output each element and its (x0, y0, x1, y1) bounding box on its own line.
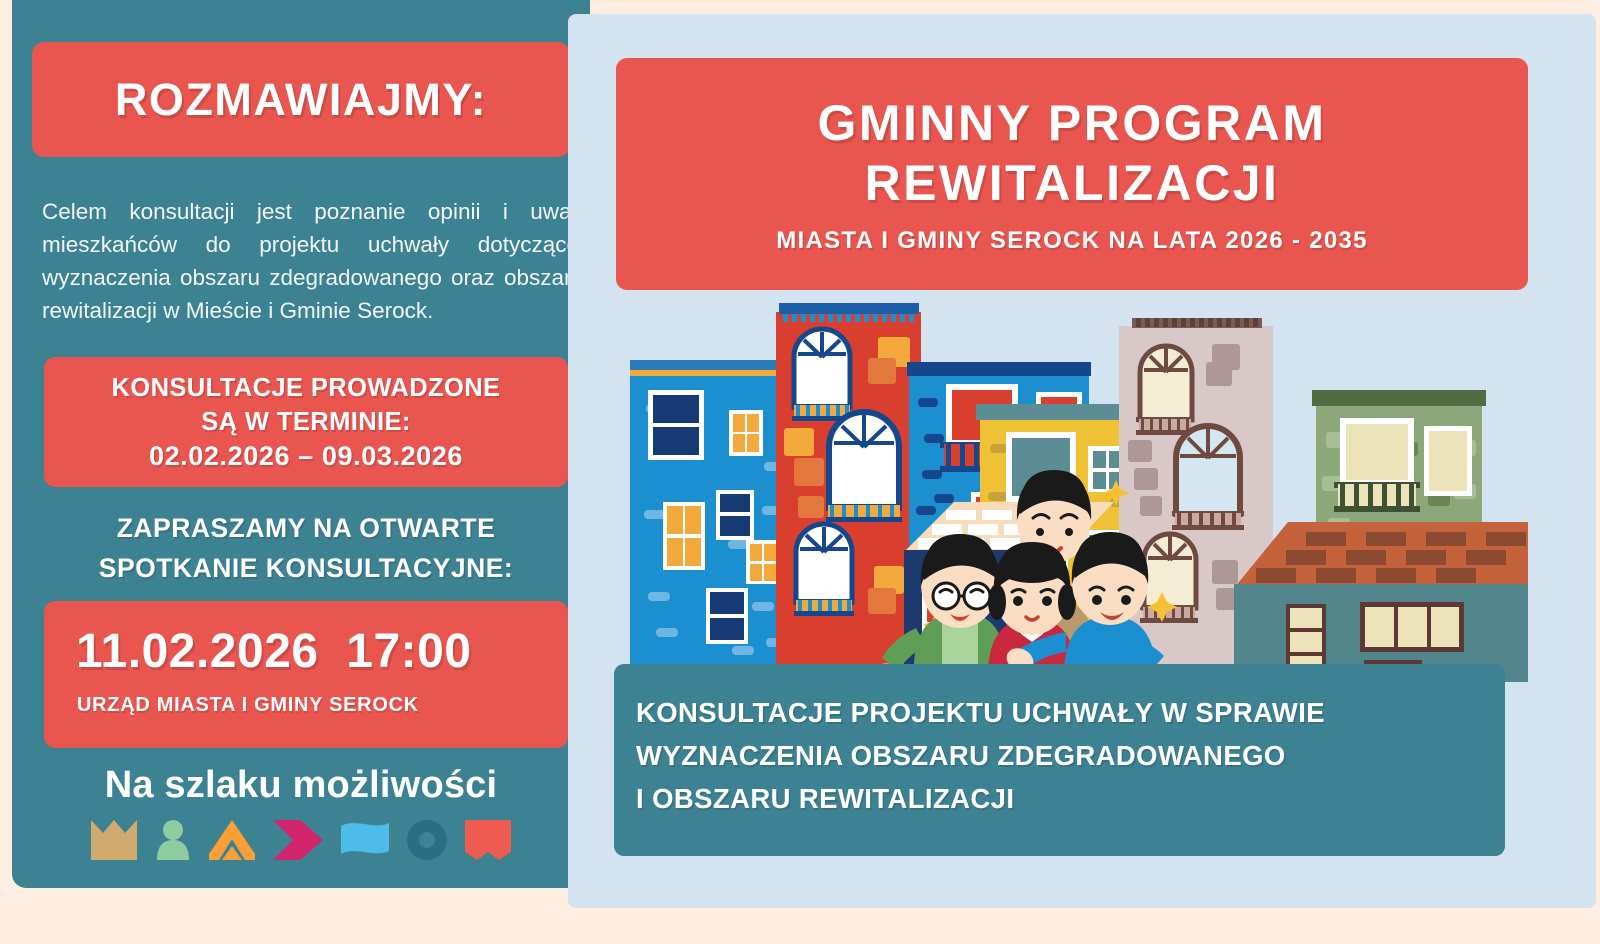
footer-line3: I OBSZARU REWITALIZACJI (636, 783, 1014, 815)
invitation-line2: SPOTKANIE KONSULTACYJNE: (44, 548, 568, 588)
left-header-banner: ROZMAWIAJMY: (32, 42, 570, 157)
footer-line2: WYZNACZENIA OBSZARU ZDEGRADOWANEGO (636, 740, 1286, 772)
poster-canvas: ROZMAWIAJMY: Celem konsultacji jest pozn… (0, 0, 1600, 944)
consultation-period-box: KONSULTACJE PROWADZONE SĄ W TERMINIE: 02… (44, 357, 568, 487)
open-book-icon (465, 820, 511, 860)
invitation-line1: ZAPRASZAMY NA OTWARTE (44, 508, 568, 548)
town-buildings-with-people-illustration (616, 292, 1528, 682)
crown-m-icon (91, 820, 137, 860)
left-header-title: ROZMAWIAJMY: (115, 74, 487, 126)
left-panel: ROZMAWIAJMY: Celem konsultacji jest pozn… (12, 0, 590, 888)
program-title-line2: REWITALIZACJI (865, 153, 1280, 213)
right-panel: GMINNY PROGRAM REWITALIZACJI MIASTA I GM… (568, 14, 1596, 908)
circle-target-icon (407, 820, 447, 860)
intro-paragraph: Celem konsultacji jest poznanie opinii i… (42, 195, 584, 327)
meeting-details-box: 11.02.2026 17:00 URZĄD MIASTA I GMINY SE… (44, 601, 568, 748)
footer-line1: KONSULTACJE PROJEKTU UCHWAŁY W SPRAWIE (636, 697, 1325, 729)
invitation-text: ZAPRASZAMY NA OTWARTE SPOTKANIE KONSULTA… (44, 508, 568, 588)
slogan-text: Na szlaku możliwości (12, 764, 590, 807)
program-title-line1: GMINNY PROGRAM (817, 93, 1326, 153)
consultation-period-line2: SĄ W TERMINIE: (201, 405, 411, 439)
arrow-right-icon (273, 820, 323, 860)
consultation-period-line1: KONSULTACJE PROWADZONE (112, 371, 501, 405)
meeting-place: URZĄD MIASTA I GMINY SEROCK (77, 694, 419, 717)
meeting-datetime: 11.02.2026 17:00 (76, 624, 472, 679)
building-red-tall (776, 303, 921, 682)
person-icon (155, 820, 191, 860)
flag-icon (341, 822, 389, 858)
right-header-banner: GMINNY PROGRAM REWITALIZACJI MIASTA I GM… (616, 58, 1528, 290)
consultation-period-range: 02.02.2026 – 09.03.2026 (149, 439, 463, 473)
right-footer-banner: KONSULTACJE PROJEKTU UCHWAŁY W SPRAWIE W… (614, 664, 1505, 856)
building-teal-brick (1234, 522, 1528, 682)
logo-icon-row (12, 820, 590, 860)
chevron-up-icon (209, 820, 255, 860)
program-subtitle: MIASTA I GMINY SEROCK NA LATA 2026 - 203… (776, 227, 1368, 255)
